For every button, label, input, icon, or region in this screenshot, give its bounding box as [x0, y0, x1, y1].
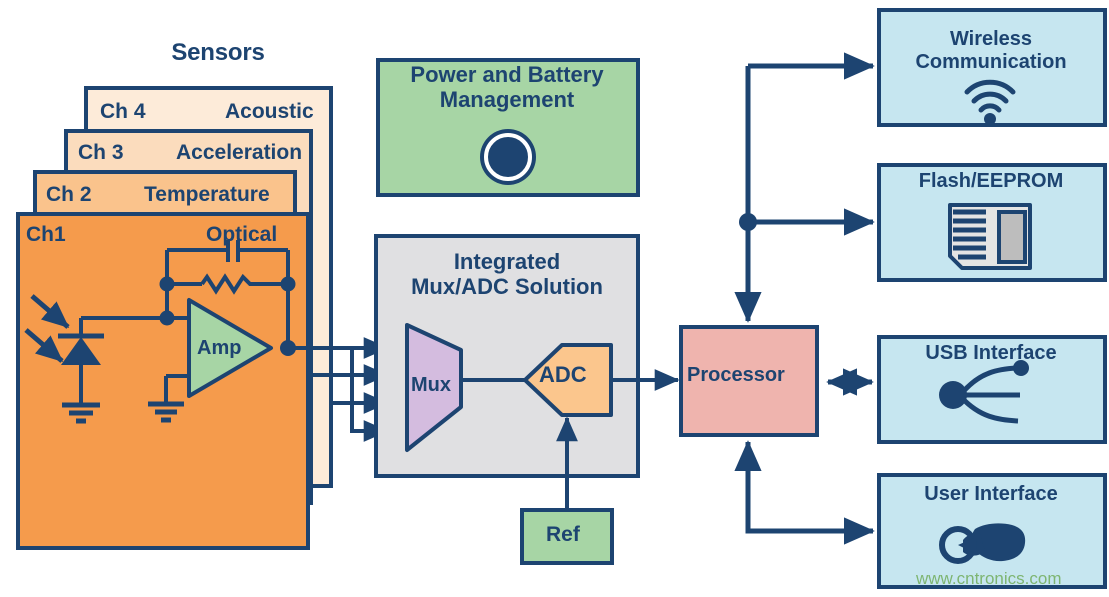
- sensor-card-ch3[interactable]: [66, 131, 311, 503]
- card-ch4-type-label: Acoustic: [225, 100, 314, 124]
- adc-label: ADC: [539, 363, 587, 388]
- adc-shape[interactable]: [525, 345, 611, 415]
- card-ch2-channel-label: Ch 2: [46, 183, 92, 207]
- ref-label: Ref: [546, 523, 580, 547]
- card-ch3-channel-label: Ch 3: [78, 141, 124, 165]
- mux-adc-block-label: Integrated Mux/ADC Solution: [376, 250, 638, 299]
- usb-interface-label: USB Interface: [880, 342, 1102, 365]
- user-interface-label: User Interface: [880, 483, 1102, 506]
- block-diagram-canvas: Sensors Ch 4 Acoustic Ch 3 Acceleration …: [0, 0, 1109, 597]
- mux-shape[interactable]: [407, 325, 461, 450]
- site-watermark: www.cntronics.com: [916, 569, 1061, 589]
- amplifier-circuit: [81, 240, 296, 420]
- wireless-communication-label: Wireless Communication: [880, 28, 1102, 74]
- amp-label: Amp: [197, 337, 241, 359]
- power-battery-block[interactable]: [378, 60, 638, 195]
- sensor-card-ch4[interactable]: [86, 88, 331, 486]
- mux-adc-block[interactable]: [376, 236, 638, 476]
- usb-trident-icon: [939, 360, 1029, 421]
- flash-eeprom-label: Flash/EEPROM: [880, 170, 1102, 193]
- usb-interface-block[interactable]: [879, 337, 1105, 442]
- flash-eeprom-block[interactable]: [879, 165, 1105, 280]
- ref-block[interactable]: [522, 510, 612, 563]
- card-ch3-type-label: Acceleration: [176, 141, 302, 165]
- page-title: Sensors: [120, 40, 316, 67]
- sensor-card-ch1[interactable]: [18, 214, 308, 548]
- card-ch4-channel-label: Ch 4: [100, 100, 146, 124]
- card-ch1-channel-label: Ch1: [26, 223, 66, 247]
- processor-user-interface-link: [748, 442, 873, 531]
- photodiode-icon: [26, 296, 104, 421]
- power-battery-label: Power and Battery Management: [378, 63, 636, 112]
- processor-block[interactable]: [681, 327, 817, 435]
- wifi-icon: [967, 82, 1013, 125]
- memory-card-icon: [950, 205, 1030, 268]
- hand-pointer-icon: [942, 523, 1025, 561]
- processor-bus-top: [739, 66, 873, 321]
- sensor-card-ch2[interactable]: [35, 172, 295, 518]
- diagram-vector-layer: [0, 0, 1109, 597]
- card-ch1-type-label: Optical: [206, 223, 277, 247]
- processor-label: Processor: [687, 364, 785, 386]
- battery-cell-icon: [480, 129, 536, 185]
- user-interface-block[interactable]: [879, 475, 1105, 587]
- wireless-communication-block[interactable]: [879, 10, 1105, 125]
- mux-label: Mux: [411, 374, 451, 396]
- channel-signal-lines: [288, 348, 387, 431]
- card-ch2-type-label: Temperature: [144, 183, 270, 207]
